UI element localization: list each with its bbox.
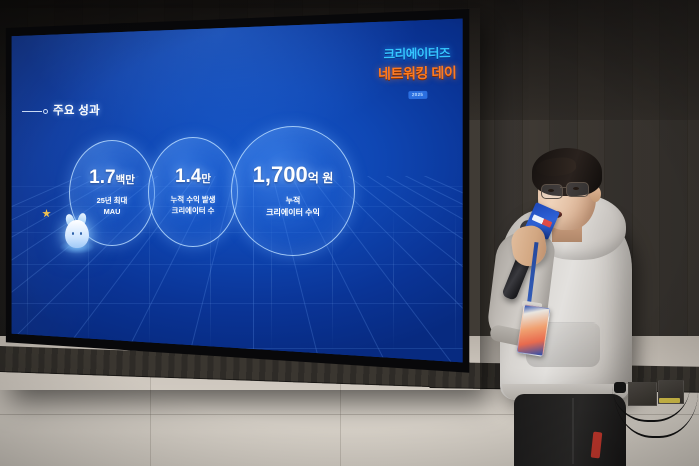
- stat-caption-revenue: 누적 크리에이터 수익: [266, 195, 320, 218]
- stat-value-revenue: 1,700억 원: [253, 164, 334, 186]
- stat-value-mau: 1.7백만: [89, 168, 135, 187]
- eye-right: [573, 187, 579, 190]
- stat-circle-creators[interactable]: 1.4만 누적 수익 발생 크리에이터 수: [148, 137, 238, 247]
- stat-circle-revenue[interactable]: 1,700억 원 누적 크리에이터 수익: [231, 126, 355, 256]
- glasses-bridge: [560, 187, 567, 188]
- pants: [514, 394, 626, 466]
- eye-left: [548, 189, 554, 192]
- stat-value-creators: 1.4만: [175, 167, 211, 186]
- pants-crease: [572, 398, 574, 464]
- stat-circle-group: 1.7백만 25년 최대 MAU 1.4만 누적 수익 발생 크리에이터 수: [8, 12, 470, 380]
- led-display-bezel: 주요 성과 크리에이터즈 네트워킹 데이 2025 1.7백만 25년 최대 M…: [4, 6, 474, 386]
- slide-canvas: 주요 성과 크리에이터즈 네트워킹 데이 2025 1.7백만 25년 최대 M…: [8, 12, 470, 380]
- stat-caption-creators: 누적 수익 발생 크리에이터 수: [171, 195, 216, 216]
- presentation-room-photo: 주요 성과 크리에이터즈 네트워킹 데이 2025 1.7백만 25년 최대 M…: [0, 0, 699, 466]
- stat-caption-mau: 25년 최대 MAU: [97, 196, 128, 217]
- ghost-mascot-icon: [61, 212, 93, 252]
- led-display-screen[interactable]: 주요 성과 크리에이터즈 네트워킹 데이 2025 1.7백만 25년 최대 M…: [8, 12, 470, 380]
